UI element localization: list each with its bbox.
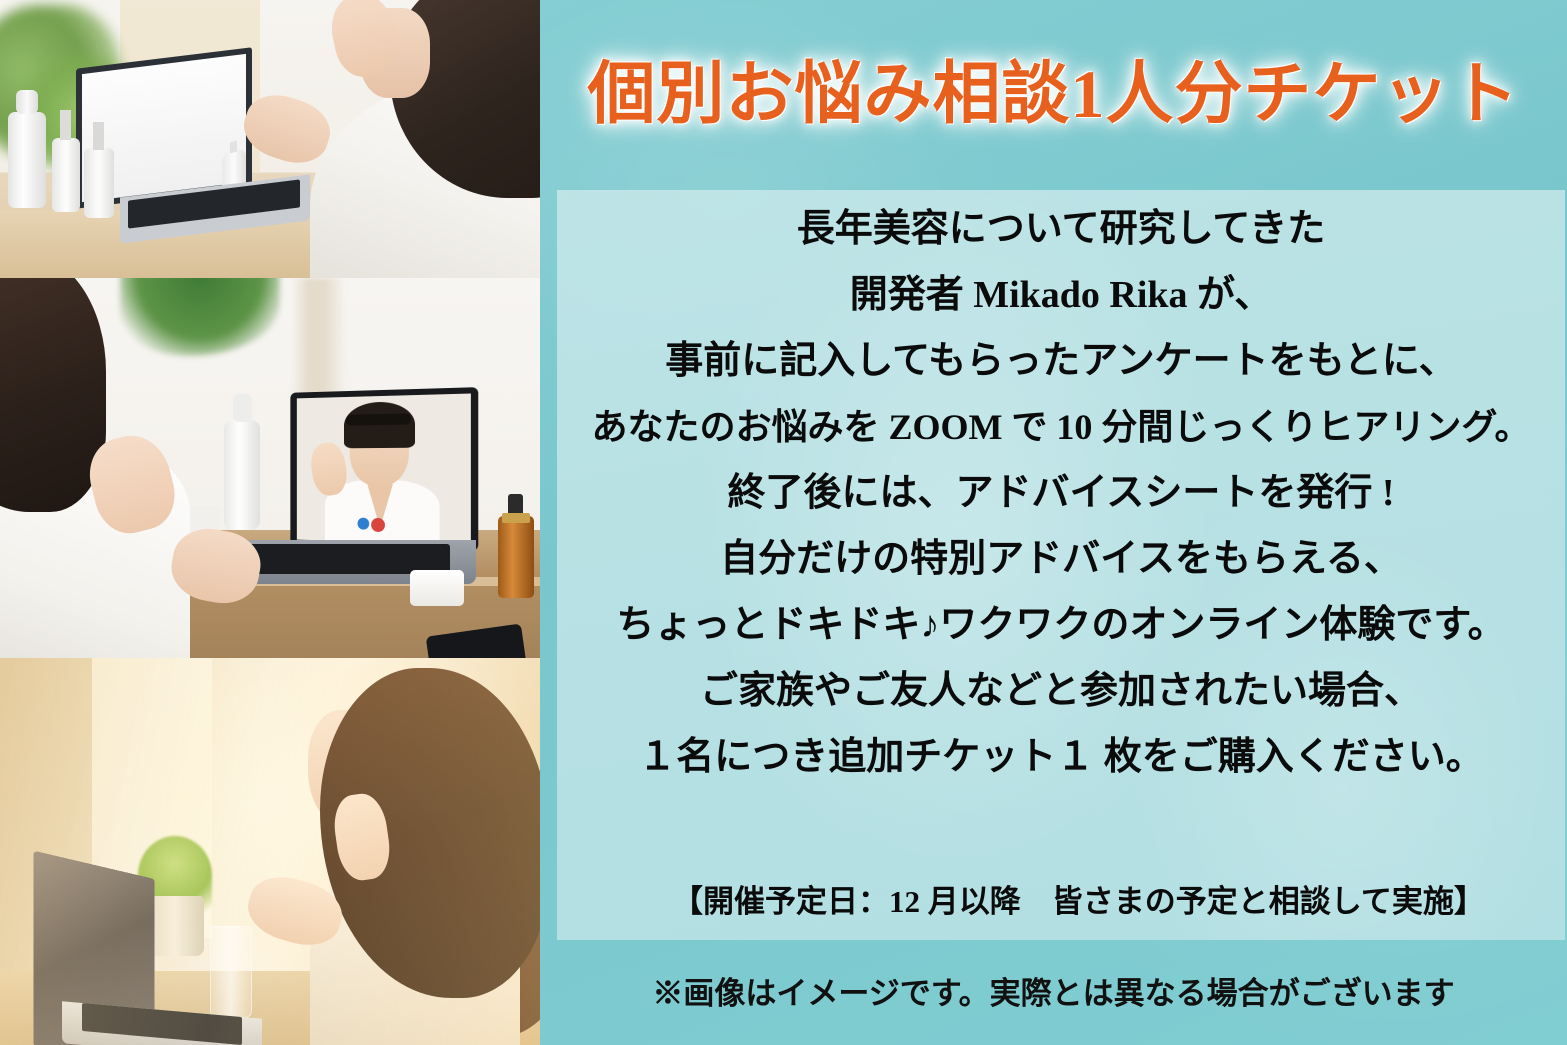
image-disclaimer: ※画像はイメージです。実際とは異なる場合がございます (540, 968, 1567, 1013)
photo-2-woman (0, 278, 240, 658)
photo-1-small-bottle (84, 148, 114, 218)
photo-skincare-video-call (0, 0, 540, 278)
photo-2-laptop-screen (297, 394, 471, 545)
photo-2-ladder (292, 278, 346, 408)
description-line: １名につき追加チケット１ 枚をご購入ください。 (557, 724, 1565, 790)
photo-3-warm-overlay (0, 658, 540, 1045)
ticket-banner: 個別お悩み相談1人分チケット 長年美容について研究してきた 開発者 Mikado… (0, 0, 1567, 1045)
page-title: 個別お悩み相談1人分チケット (540, 38, 1567, 137)
content-area: 個別お悩み相談1人分チケット 長年美容について研究してきた 開発者 Mikado… (540, 0, 1567, 1045)
photo-2-cream-jar (410, 570, 464, 606)
photo-1-spray-bottle (52, 138, 80, 212)
photo-2-caller-headband (346, 413, 411, 425)
description-line: 自分だけの特別アドバイスをもらえる、 (557, 526, 1565, 592)
photo-2-caller-badge-blue (358, 518, 370, 530)
photo-3-scene (0, 658, 540, 1045)
photo-2-caller-badge-red (371, 518, 385, 532)
description-line: ちょっとドキドキ♪ワクワクのオンライン体験です。 (557, 592, 1565, 658)
description-line: あなたのお悩みを ZOOM で 10 分間じっくりヒアリング。 (557, 394, 1565, 460)
description-line: 開発者 Mikado Rika が、 (557, 262, 1565, 328)
description-line: 終了後には、アドバイスシートを発行 ! (557, 460, 1565, 526)
description-line: ご家族やご友人などと参加されたい場合、 (557, 658, 1565, 724)
photo-2-serum-dropper-bottle (498, 516, 534, 598)
photo-sunlit-laptop (0, 658, 540, 1045)
schedule-note: 【開催予定日：12 月以降 皆さまの予定と相談して実施】 (672, 876, 1532, 921)
photo-online-consultation (0, 278, 540, 658)
description-line: 事前に記入してもらったアンケートをもとに、 (557, 328, 1565, 394)
description-line: 長年美容について研究してきた (557, 196, 1565, 262)
photo-1-pump-bottle (8, 112, 46, 208)
photo-column (0, 0, 540, 1045)
description-text: 長年美容について研究してきた 開発者 Mikado Rika が、 事前に記入し… (557, 196, 1565, 790)
photo-1-woman (280, 0, 540, 278)
photo-1-scene (0, 0, 540, 278)
photo-2-scene (0, 278, 540, 658)
